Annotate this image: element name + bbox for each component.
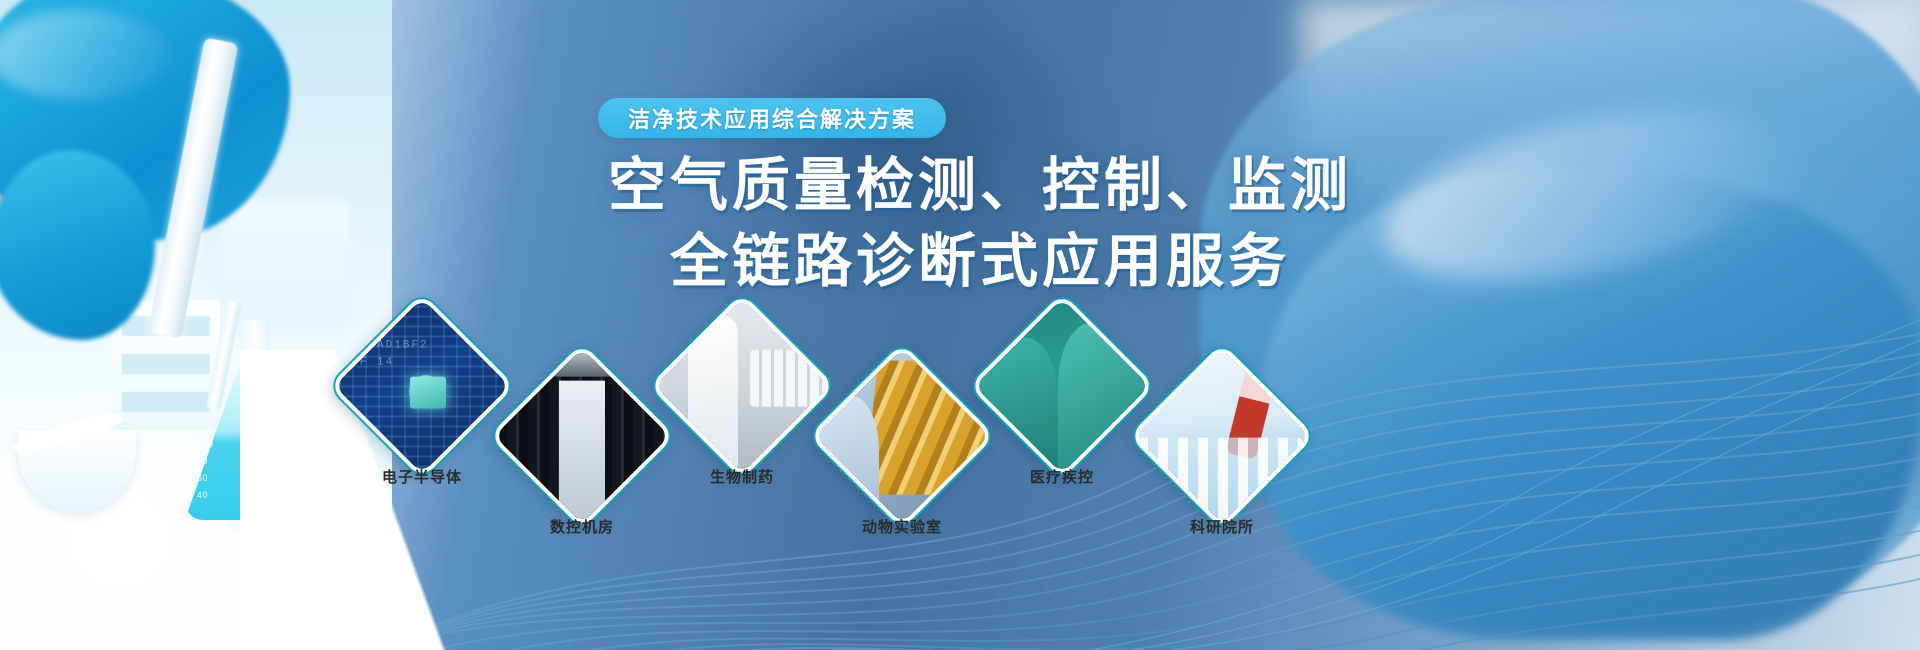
banner-content: 洁净技术应用综合解决方案 空气质量检测、控制、监测 全链路诊断式应用服务 E2 … — [0, 0, 1920, 650]
industry-card-server-room[interactable]: 数控机房 — [516, 370, 648, 502]
industry-card-medical-cdc[interactable]: 医疗疾控 — [996, 320, 1128, 452]
industry-card-semiconductor[interactable]: E2 F D59267 8 0AD1BF2B25F 14 电子半导体 — [356, 320, 488, 452]
industry-card-label: 科研院所 — [1127, 516, 1317, 537]
medical-cdc-icon — [969, 293, 1156, 480]
industry-card-label: 医疗疾控 — [967, 466, 1157, 487]
research-institute-icon — [1129, 343, 1316, 530]
industry-card-label: 动物实验室 — [807, 516, 997, 537]
industry-card-row: E2 F D59267 8 0AD1BF2B25F 14 电子半导体 数控机房 … — [0, 0, 1920, 650]
industry-card-research-institute[interactable]: 科研院所 — [1156, 370, 1288, 502]
hero-banner: 100 80 60 40 — [0, 0, 1920, 650]
biopharma-icon — [649, 293, 836, 480]
animal-lab-icon — [809, 343, 996, 530]
server-room-icon — [489, 343, 676, 530]
semiconductor-chip-icon: E2 F D59267 8 0AD1BF2B25F 14 — [329, 293, 516, 480]
industry-card-label: 电子半导体 — [327, 466, 517, 487]
industry-card-animal-lab[interactable]: 动物实验室 — [836, 370, 968, 502]
industry-card-biopharma[interactable]: 生物制药 — [676, 320, 808, 452]
industry-card-label: 数控机房 — [487, 516, 677, 537]
industry-card-label: 生物制药 — [647, 466, 837, 487]
